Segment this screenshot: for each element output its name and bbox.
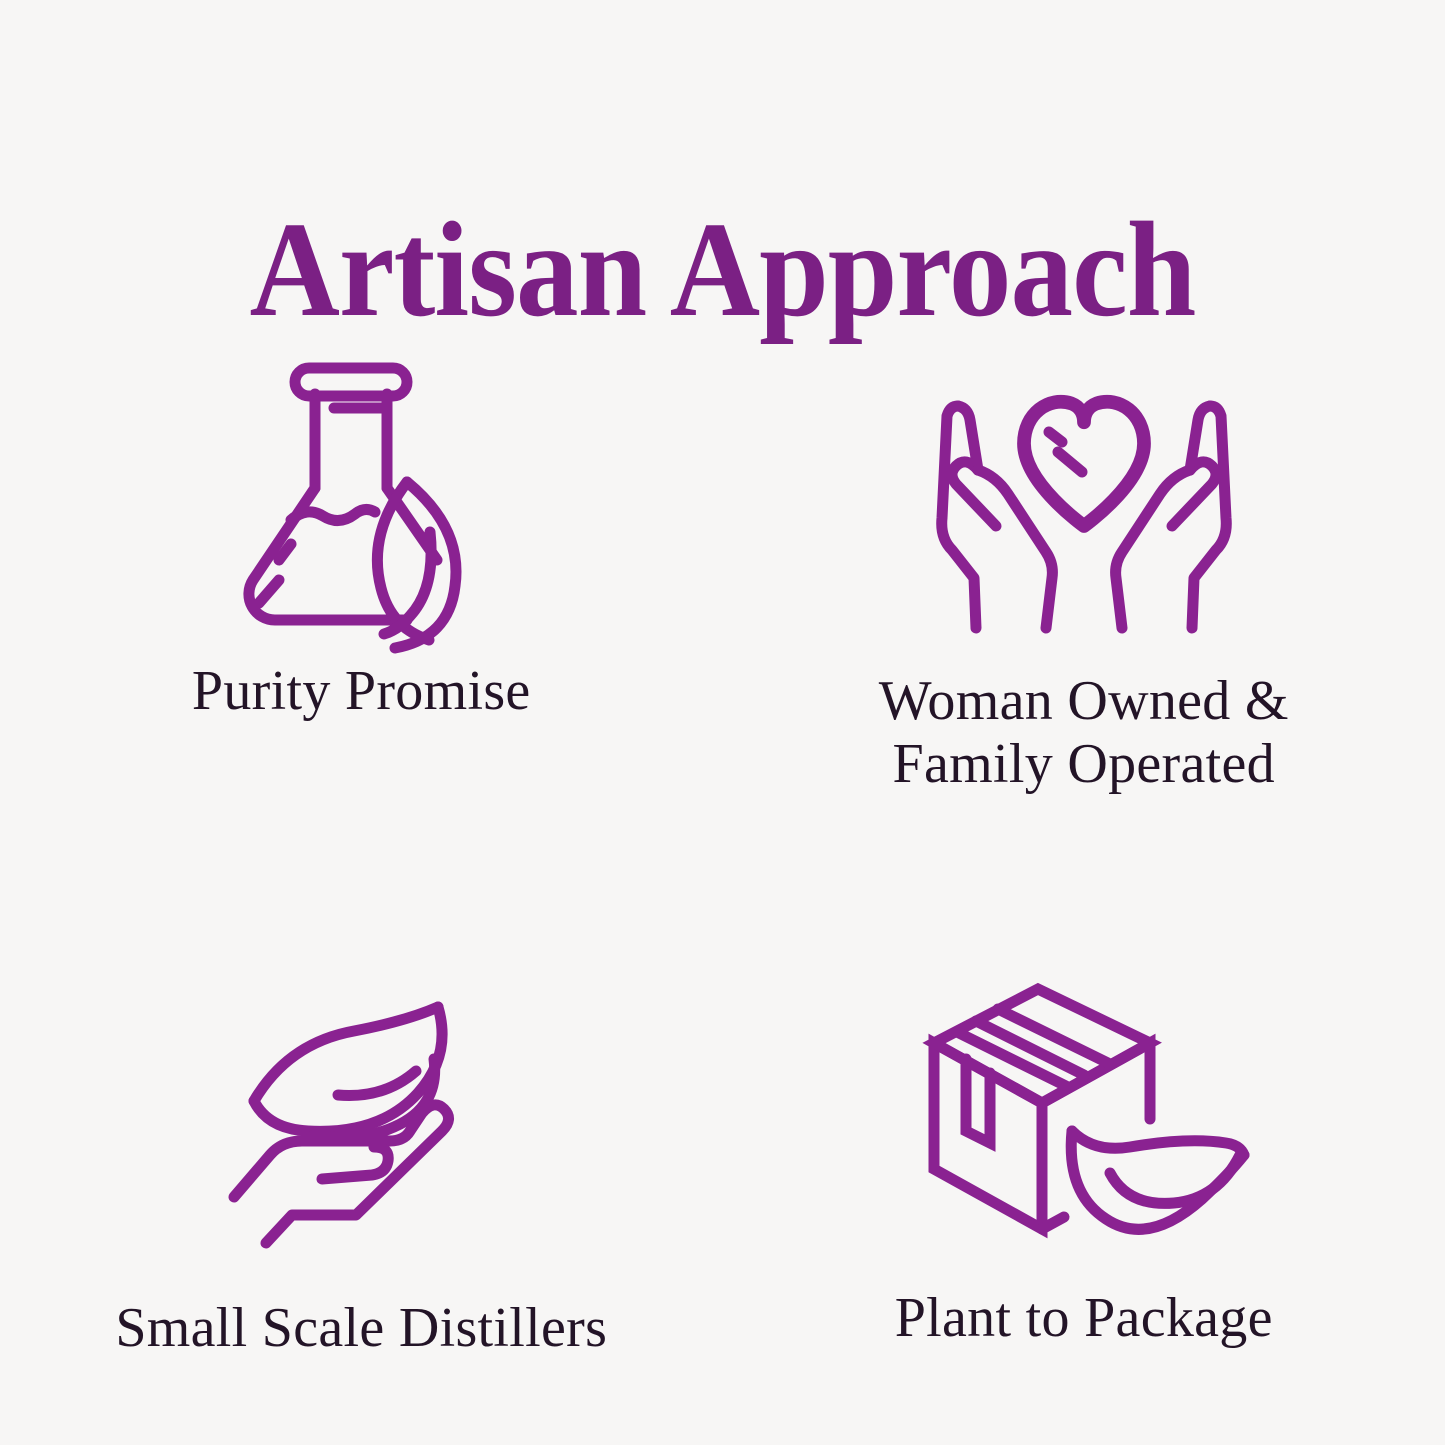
feature-item-purity-promise: Purity Promise xyxy=(0,338,723,795)
hands-holding-heart-icon xyxy=(934,356,1234,646)
feature-caption: Purity Promise xyxy=(192,660,531,723)
page-title: Artisan Approach xyxy=(58,199,1387,342)
box-leaf-icon xyxy=(934,963,1234,1253)
feature-caption: Small Scale Distillers xyxy=(115,1297,607,1360)
hand-holding-leaf-icon xyxy=(211,973,511,1263)
feature-item-plant-to-package: Plant to Package xyxy=(723,795,1445,1360)
flask-leaf-icon xyxy=(211,348,511,638)
feature-item-woman-owned: Woman Owned & Family Operated xyxy=(723,338,1445,795)
feature-caption: Woman Owned & Family Operated xyxy=(879,670,1289,795)
feature-caption: Plant to Package xyxy=(895,1287,1273,1350)
feature-grid: Purity Promise xyxy=(0,338,1445,1358)
artisan-approach-panel: Artisan Approach xyxy=(0,0,1445,1445)
feature-item-small-scale-distillers: Small Scale Distillers xyxy=(0,795,723,1360)
